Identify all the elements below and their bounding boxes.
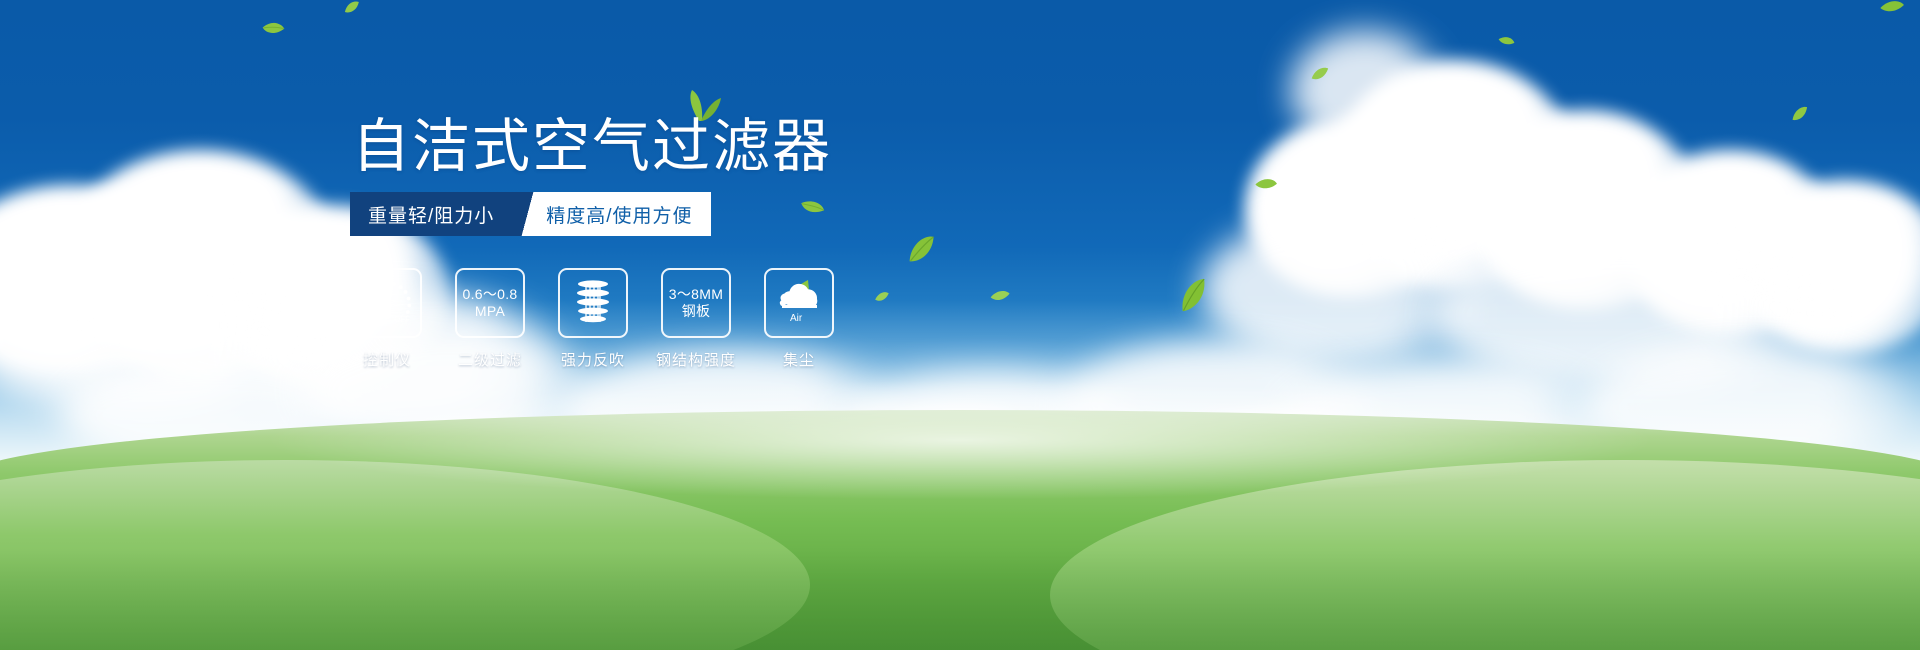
dial-on-label: NO [364, 298, 376, 307]
banner-content: 自洁式空气过滤器 重量轻/阻力小 精度高/使用方便 [0, 0, 1920, 650]
feature-icon-box [558, 268, 628, 338]
feature-item-filtration: 0.6～0.8 MPA 二级过滤 [455, 268, 525, 370]
subtitle-separator [516, 192, 542, 236]
feature-icon-box: 3～8MM 钢板 [661, 268, 731, 338]
feature-icon-box: Air [764, 268, 834, 338]
feature-item-steel: 3～8MM 钢板 钢结构强度 [661, 268, 731, 370]
filter-cartridge-icon [569, 276, 617, 331]
feature-item-backblow: 强力反吹 [558, 268, 628, 370]
subtitle-right: 精度高/使用方便 [542, 192, 710, 236]
steel-value-line1: 3～8MM [669, 286, 723, 303]
subtitle-bar: 重量轻/阻力小 精度高/使用方便 [350, 192, 711, 236]
feature-item-dust: Air 集尘 [764, 268, 834, 370]
feature-item-controller: NO OFF 控制仪 [352, 268, 422, 370]
feature-icon-box: 0.6～0.8 MPA [455, 268, 525, 338]
hero-banner: 自洁式空气过滤器 重量轻/阻力小 精度高/使用方便 [0, 0, 1920, 650]
pressure-value-line1: 0.6～0.8 [462, 286, 517, 303]
page-title: 自洁式空气过滤器 [352, 116, 832, 178]
feature-caption: 钢结构强度 [656, 349, 736, 370]
feature-icon-box: NO OFF [352, 268, 422, 338]
subtitle-left: 重量轻/阻力小 [350, 192, 516, 236]
feature-caption: 二级过滤 [458, 349, 522, 370]
dial-off-label: OFF [394, 315, 410, 324]
feature-list: NO OFF 控制仪 0.6～0.8 MPA 二级过滤 [352, 268, 834, 370]
pressure-value-line2: MPA [475, 303, 505, 320]
air-cloud-icon: Air [772, 278, 826, 329]
air-label: Air [790, 313, 803, 324]
control-dial-icon: NO OFF [361, 277, 413, 330]
feature-caption: 控制仪 [363, 349, 411, 370]
feature-caption: 强力反吹 [561, 349, 625, 370]
steel-value-line2: 钢板 [682, 303, 711, 320]
feature-caption: 集尘 [783, 349, 815, 370]
